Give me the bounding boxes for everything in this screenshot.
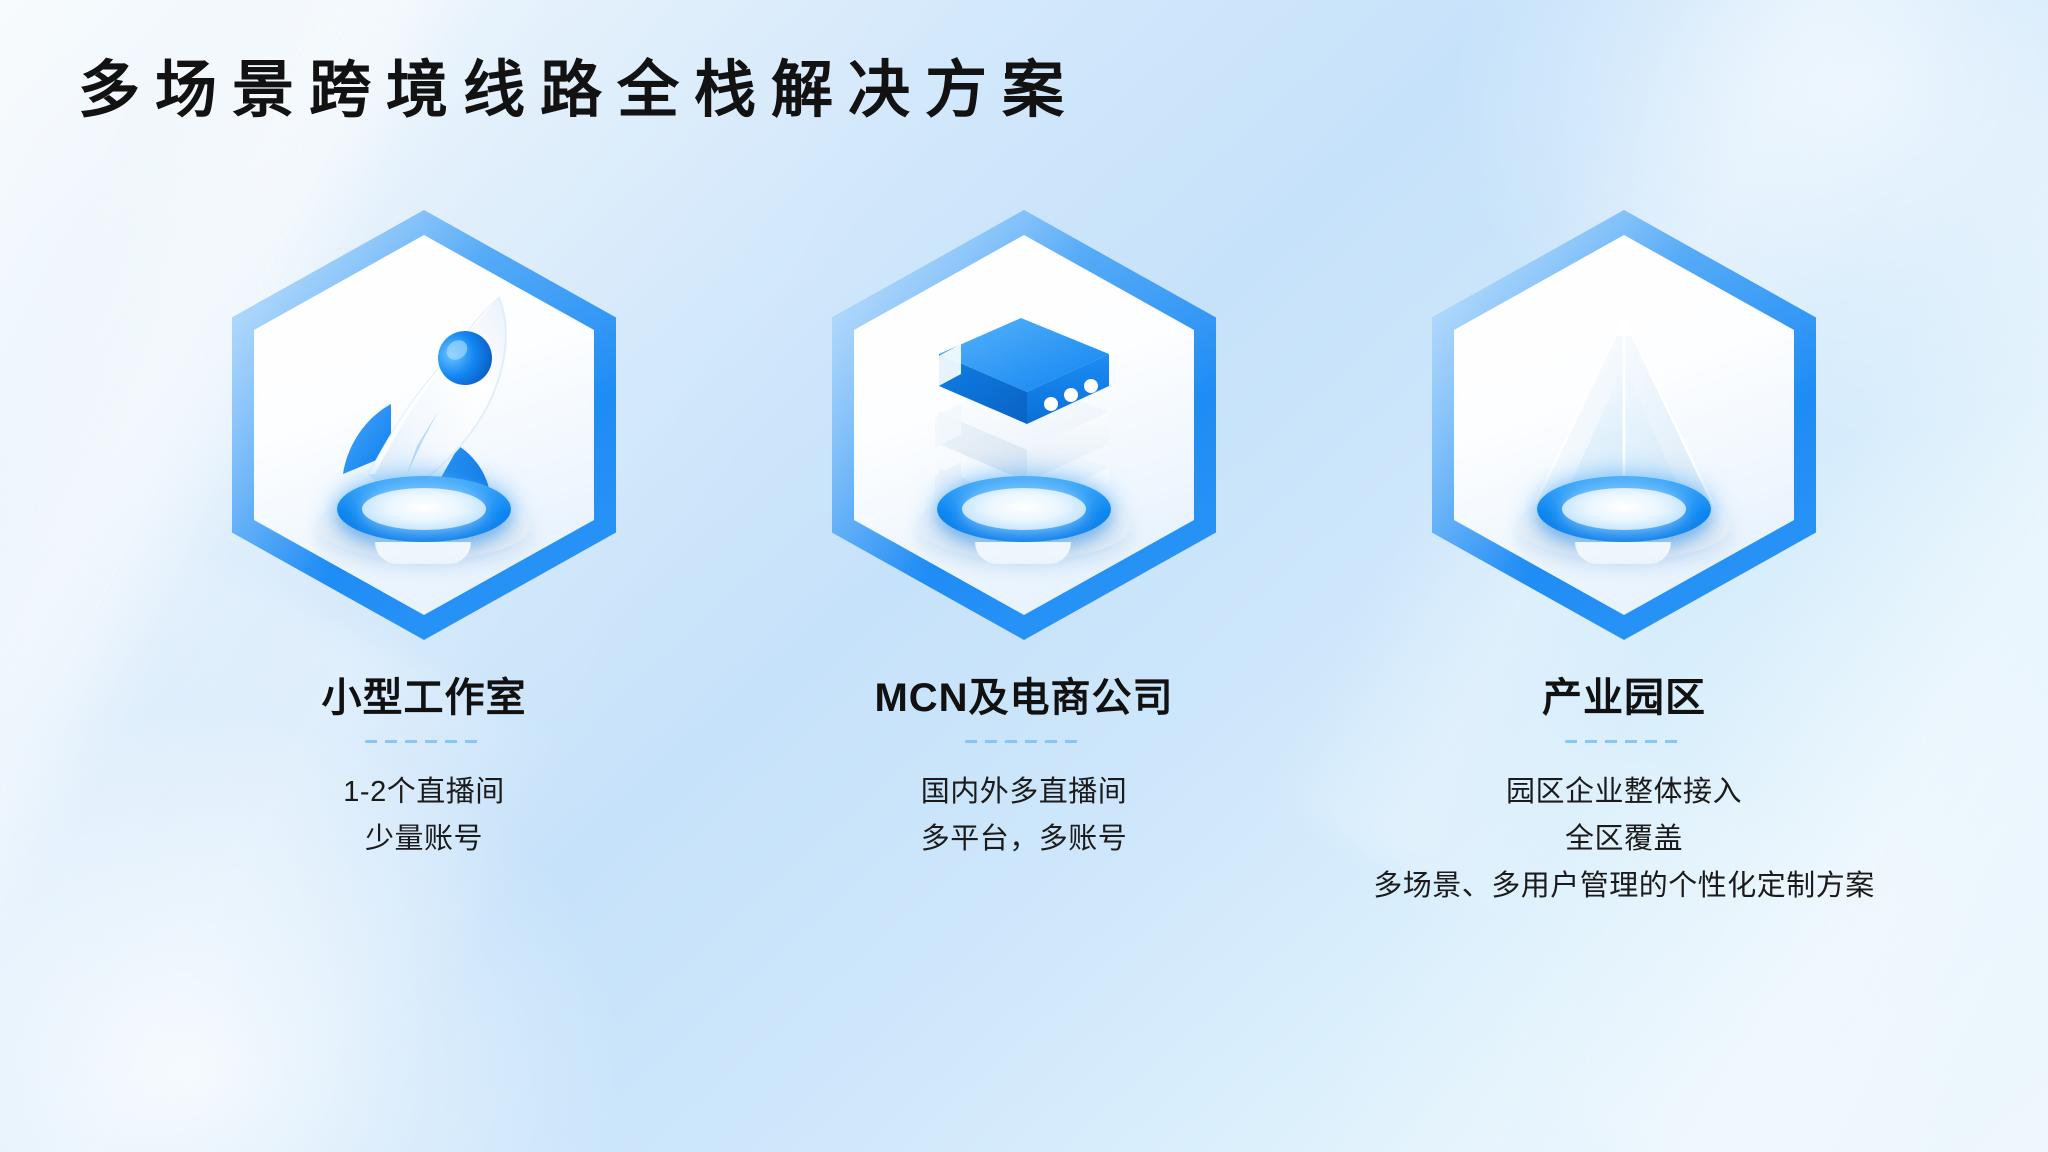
card-body-line: 国内外多直播间 — [921, 769, 1128, 816]
hexagon-badge — [832, 210, 1216, 640]
card-body-line: 多场景、多用户管理的个性化定制方案 — [1373, 863, 1875, 910]
card-body-line: 园区企业整体接入 — [1373, 769, 1875, 816]
card-title: 小型工作室 — [322, 674, 527, 722]
dashed-divider — [1565, 740, 1683, 743]
pedestal-notch — [375, 542, 471, 564]
card-body-line: 1-2个直播间 — [343, 769, 504, 816]
glowing-pedestal — [917, 476, 1131, 562]
card-row: 小型工作室 1-2个直播间 少量账号 — [0, 210, 2048, 910]
card-body: 1-2个直播间 少量账号 — [343, 769, 504, 863]
card-body: 国内外多直播间 多平台，多账号 — [921, 769, 1128, 863]
card-title: 产业园区 — [1542, 674, 1706, 722]
card-body-line: 少量账号 — [343, 816, 504, 863]
pedestal-notch — [1575, 542, 1671, 564]
card-title: MCN及电商公司 — [874, 674, 1173, 722]
pedestal-glow — [362, 488, 486, 530]
scenario-card[interactable]: MCN及电商公司 国内外多直播间 多平台，多账号 — [724, 210, 1324, 863]
card-body-line: 全区覆盖 — [1373, 816, 1875, 863]
glowing-pedestal — [317, 476, 531, 562]
dashed-divider — [965, 740, 1083, 743]
card-body: 园区企业整体接入 全区覆盖 多场景、多用户管理的个性化定制方案 — [1373, 769, 1875, 910]
dashed-divider — [365, 740, 483, 743]
pedestal-glow — [962, 488, 1086, 530]
hexagon-badge — [232, 210, 616, 640]
scenario-card[interactable]: 产业园区 园区企业整体接入 全区覆盖 多场景、多用户管理的个性化定制方案 — [1324, 210, 1924, 910]
glowing-pedestal — [1517, 476, 1731, 562]
card-body-line: 多平台，多账号 — [921, 816, 1128, 863]
scenario-card[interactable]: 小型工作室 1-2个直播间 少量账号 — [124, 210, 724, 863]
page-title: 多场景跨境线路全栈解决方案 — [78, 58, 1079, 123]
pedestal-notch — [975, 542, 1071, 564]
hexagon-badge — [1432, 210, 1816, 640]
slide-canvas: 多场景跨境线路全栈解决方案 — [0, 0, 2048, 1152]
pedestal-glow — [1562, 488, 1686, 530]
